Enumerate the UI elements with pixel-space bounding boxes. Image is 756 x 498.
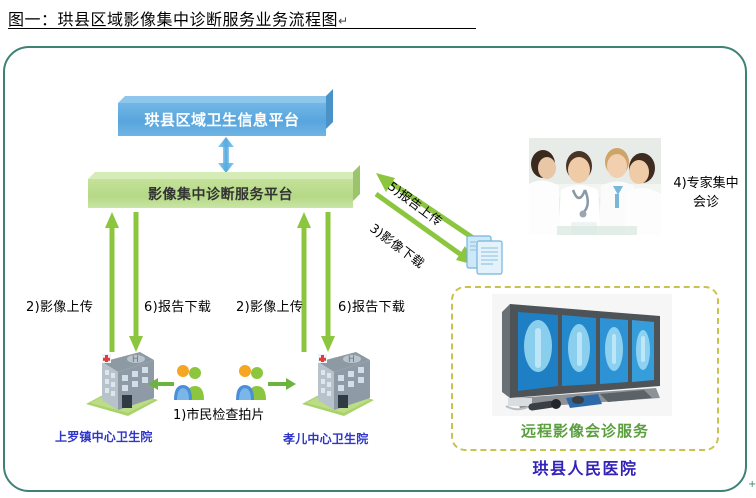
box-top-face	[118, 96, 333, 103]
documents-icon	[466, 232, 506, 276]
health-information-platform-box: 珙县区域卫生信息平台	[118, 96, 333, 136]
hospital-name-left: 上罗镇中心卫生院	[55, 428, 153, 445]
people-group-icon-right	[234, 364, 268, 400]
hospital-building-icon-right: H	[296, 344, 378, 418]
label-county-peoples-hospital: 珙县人民医院	[451, 455, 719, 479]
arrow-up-image-upload-left	[104, 212, 120, 352]
label-image-upload-right: 2)影像上传	[236, 296, 303, 315]
label-image-upload-left: 2)影像上传	[26, 296, 93, 315]
xray-viewer-photo	[492, 294, 672, 416]
page-title: 图一：珙县区域影像集中诊断服务业务流程图↵	[8, 6, 349, 30]
label-report-download-left: 6)报告下载	[144, 296, 211, 315]
hospital-name-right: 孝儿中心卫生院	[283, 430, 368, 447]
svg-text:H: H	[132, 355, 139, 365]
label-report-download-right: 6)报告下载	[338, 296, 405, 315]
title-underline	[8, 28, 476, 29]
arrow-down-report-download-left	[128, 212, 144, 352]
people-group-icon-left	[172, 364, 206, 400]
label-expert-consultation: 4)专家集中 会诊	[664, 174, 748, 212]
label-citizen-examination: 1)市民检查拍片	[173, 404, 264, 423]
arrow-down-report-download-right	[320, 212, 336, 352]
pilcrow-mark: ↵	[338, 14, 349, 28]
page-title-text: 图一：珙县区域影像集中诊断服务业务流程图	[8, 10, 338, 29]
bidirectional-arrow-icon	[216, 137, 236, 173]
box-top-face	[88, 172, 360, 179]
label-remote-imaging-service: 远程影像会诊服务	[451, 420, 719, 441]
arrow-up-image-upload-right	[296, 212, 312, 352]
imaging-diagnosis-platform-box: 影像集中诊断服务平台	[88, 172, 360, 208]
corner-plus-marker: +	[748, 481, 756, 489]
health-platform-label: 珙县区域卫生信息平台	[118, 103, 326, 136]
expert-consult-line2: 会诊	[693, 195, 719, 210]
doctors-photo	[529, 138, 661, 235]
svg-text:H: H	[348, 355, 355, 365]
box-side-face	[326, 89, 333, 129]
arrow-left-to-hospital	[148, 378, 174, 390]
box-side-face	[353, 165, 360, 201]
arrow-right-to-hospital	[268, 378, 296, 390]
expert-consult-line1: 4)专家集中	[673, 176, 738, 191]
imaging-platform-label: 影像集中诊断服务平台	[88, 179, 353, 208]
